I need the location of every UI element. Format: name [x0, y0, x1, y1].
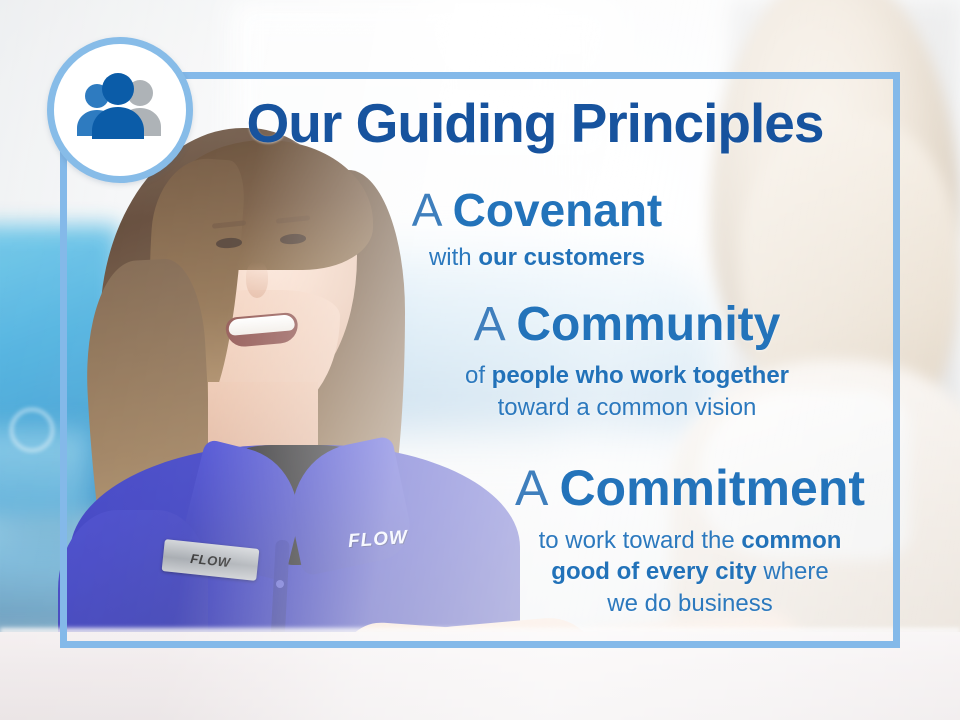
associate-nose: [246, 262, 268, 298]
name-badge-brand-text: FLOW: [190, 551, 231, 568]
desk-surface: [0, 632, 960, 720]
polo-brand-text: FLOW: [347, 527, 408, 553]
associate-teeth: [228, 314, 295, 336]
people-group-icon: [47, 37, 193, 183]
blurred-customer: [700, 0, 960, 720]
customer-collar: [700, 390, 910, 560]
poster: FLOW FLOW Our: [0, 0, 960, 720]
associate-shirt-button: [276, 580, 284, 588]
